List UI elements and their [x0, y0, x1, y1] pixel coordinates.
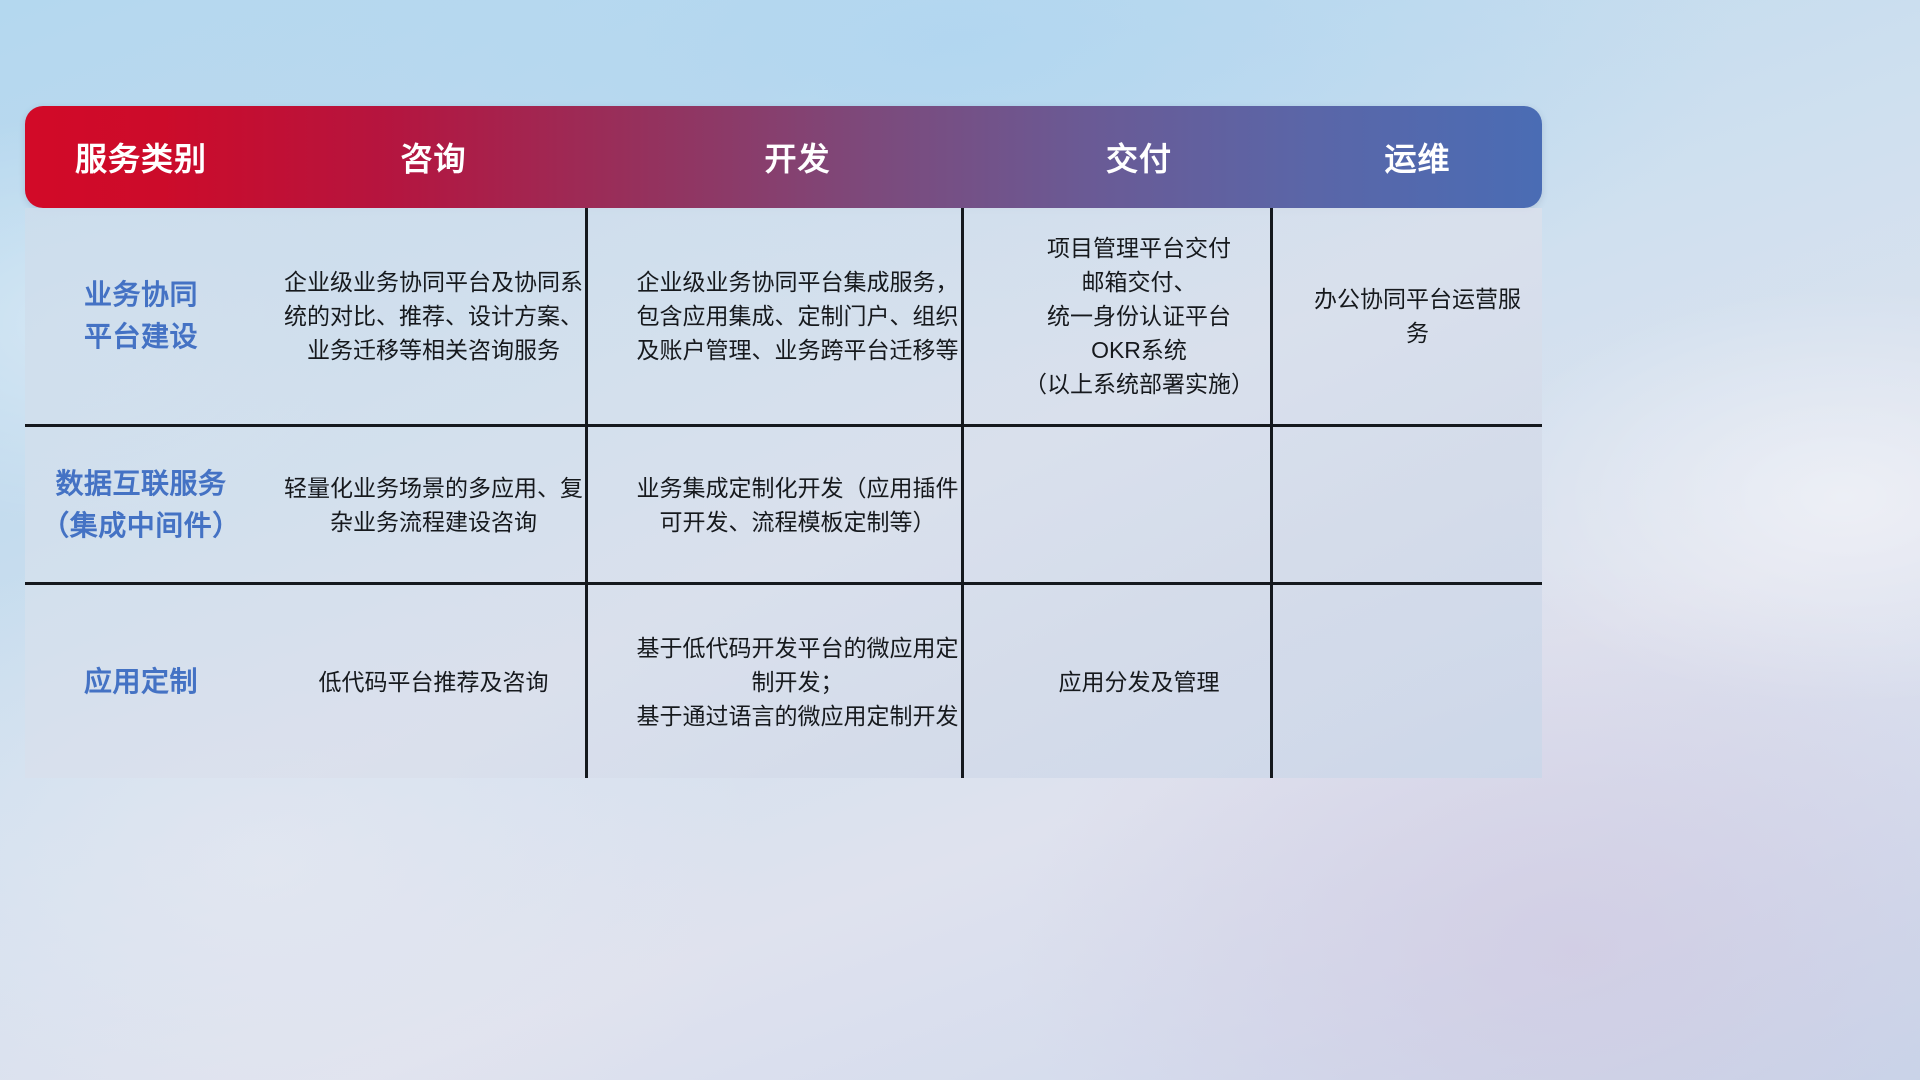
- row-label-data-interconnect: 数据互联服务 （集成中间件）: [25, 463, 257, 547]
- header-cell-operations: 运维: [1293, 134, 1542, 180]
- cell-row1-development: 企业级业务协同平台集成服务， 包含应用集成、定制门户、组织 及账户管理、业务跨平…: [610, 265, 985, 367]
- cell-row1-delivery: 项目管理平台交付 邮箱交付、 统一身份认证平台 OKR系统 （以上系统部署实施）: [985, 231, 1293, 401]
- header-cell-development: 开发: [610, 134, 985, 180]
- table-row: 数据互联服务 （集成中间件） 轻量化业务场景的多应用、复 杂业务流程建设咨询 业…: [25, 427, 1542, 582]
- cell-row2-consulting: 轻量化业务场景的多应用、复 杂业务流程建设咨询: [257, 471, 610, 539]
- table-header-row: 服务类别 咨询 开发 交付 运维: [25, 106, 1542, 208]
- header-cell-delivery: 交付: [985, 134, 1293, 180]
- table-row: 业务协同 平台建设 企业级业务协同平台及协同系 统的对比、推荐、设计方案、 业务…: [25, 208, 1542, 424]
- row-label-business-collaboration: 业务协同 平台建设: [25, 274, 257, 358]
- table-body: 业务协同 平台建设 企业级业务协同平台及协同系 统的对比、推荐、设计方案、 业务…: [25, 208, 1542, 778]
- table-row: 应用定制 低代码平台推荐及咨询 基于低代码开发平台的微应用定 制开发； 基于通过…: [25, 585, 1542, 778]
- row-label-app-customization: 应用定制: [25, 661, 257, 703]
- cell-row3-development: 基于低代码开发平台的微应用定 制开发； 基于通过语言的微应用定制开发: [610, 631, 985, 733]
- cell-row3-delivery: 应用分发及管理: [985, 665, 1293, 699]
- service-matrix-table: 服务类别 咨询 开发 交付 运维 业务协同 平台建设 企业级业务协同平台及协同系…: [25, 106, 1542, 778]
- cell-row1-operations: 办公协同平台运营服务: [1293, 282, 1542, 350]
- cell-row3-consulting: 低代码平台推荐及咨询: [257, 665, 610, 699]
- cell-row1-consulting: 企业级业务协同平台及协同系 统的对比、推荐、设计方案、 业务迁移等相关咨询服务: [257, 265, 610, 367]
- cell-row2-development: 业务集成定制化开发（应用插件 可开发、流程模板定制等）: [610, 471, 985, 539]
- header-cell-consulting: 咨询: [257, 134, 610, 180]
- header-cell-service-category: 服务类别: [25, 134, 257, 180]
